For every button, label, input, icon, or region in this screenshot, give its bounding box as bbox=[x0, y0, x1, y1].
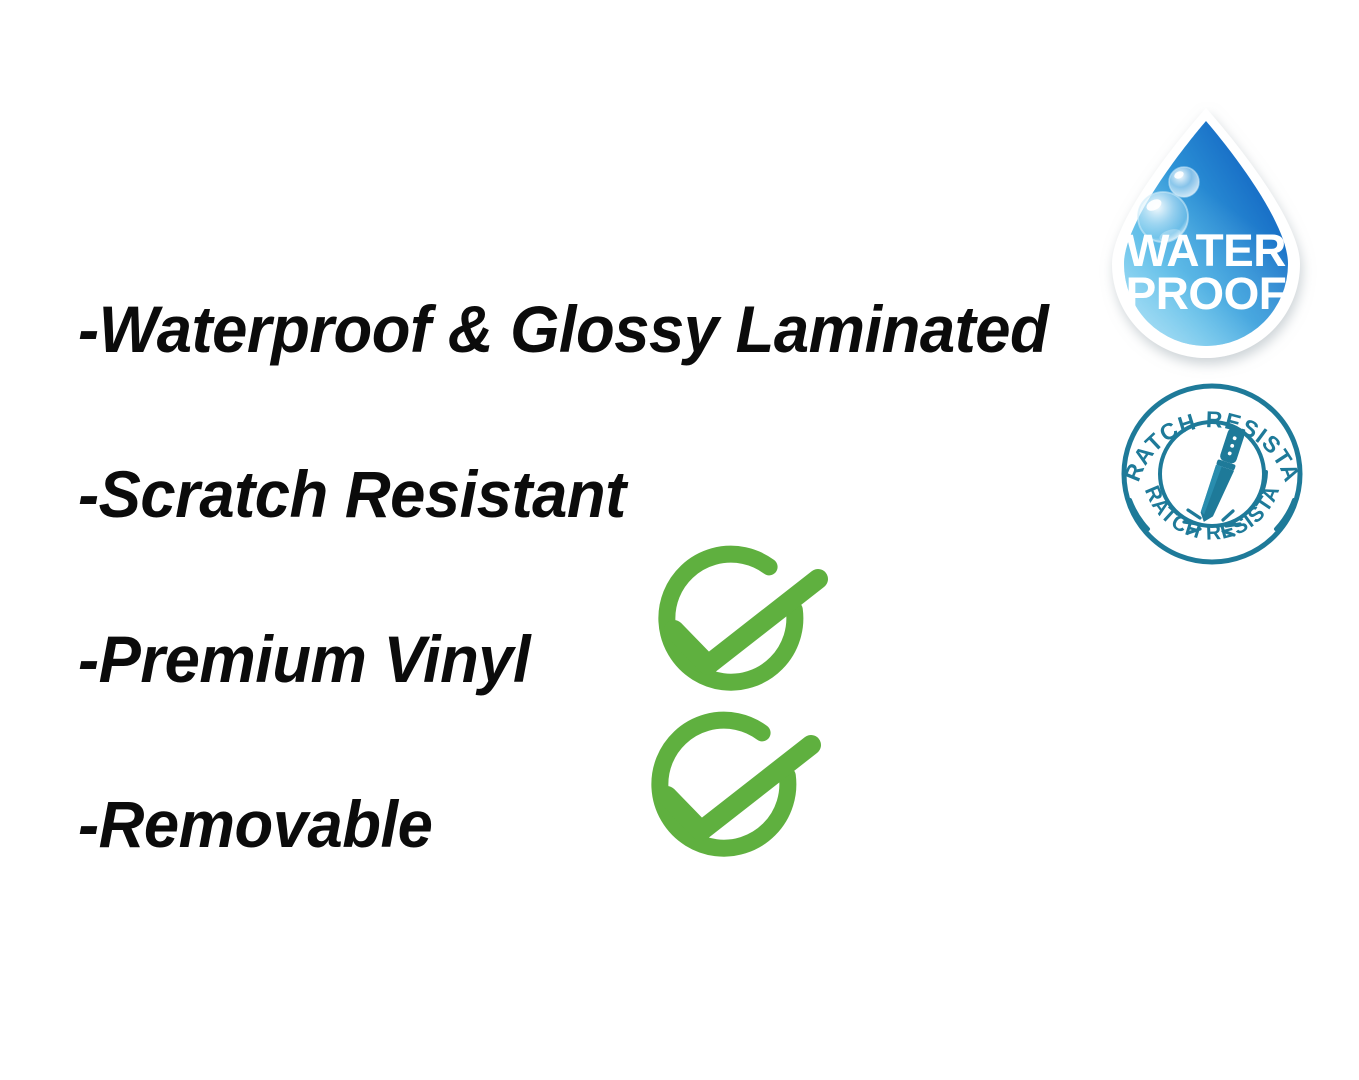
feature-label: -Scratch Resistant bbox=[78, 461, 626, 527]
waterproof-line2: PROOF bbox=[1126, 268, 1287, 318]
feature-item-scratch-resistant: -Scratch Resistant bbox=[78, 411, 1098, 576]
feature-item-premium-vinyl: -Premium Vinyl bbox=[78, 576, 1098, 741]
feature-list: -Waterproof & Glossy Laminated -Scratch … bbox=[78, 246, 1098, 906]
feature-item-waterproof-glossy-laminated: -Waterproof & Glossy Laminated bbox=[78, 246, 1098, 411]
feature-item-removable: -Removable bbox=[78, 741, 1098, 906]
knife-icon bbox=[1198, 427, 1246, 526]
circle-check-icon bbox=[636, 552, 841, 702]
feature-label: -Removable bbox=[78, 791, 432, 857]
feature-graphic-canvas: -Waterproof & Glossy Laminated -Scratch … bbox=[0, 0, 1359, 1080]
circle-check-icon bbox=[629, 718, 834, 868]
feature-label: -Waterproof & Glossy Laminated bbox=[78, 296, 1048, 362]
feature-label: -Premium Vinyl bbox=[78, 626, 530, 692]
waterproof-badge: WATER PROOF bbox=[1100, 104, 1312, 366]
water-bubble-small bbox=[1169, 167, 1199, 197]
scratch-resistant-badge: SCRATCH RESISTANT SCRATCH RESISTANT bbox=[1114, 382, 1310, 565]
